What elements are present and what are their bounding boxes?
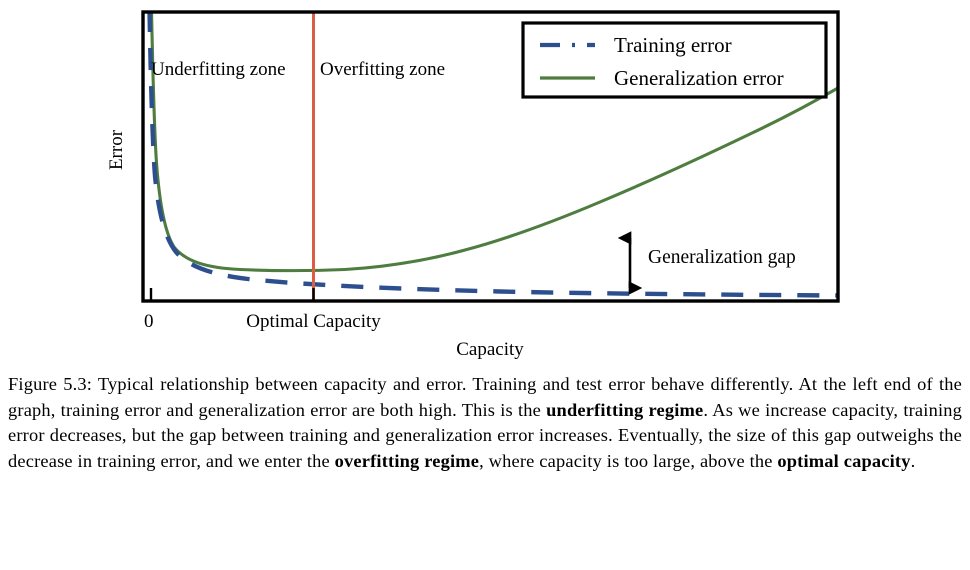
caption-emphasis: overfitting regime bbox=[335, 451, 479, 471]
capacity-error-chart: 0 Optimal Capacity Capacity Error Underf… bbox=[0, 0, 970, 365]
legend-label-training-error: Training error bbox=[614, 33, 732, 57]
y-axis-label: Error bbox=[106, 129, 127, 170]
caption-text: , where capacity is too large, above the bbox=[479, 451, 777, 471]
legend-label-generalization-error: Generalization error bbox=[614, 66, 784, 90]
xtick-label-optimal-capacity: Optimal Capacity bbox=[246, 311, 381, 332]
annotation-overfitting-zone: Overfitting zone bbox=[320, 59, 445, 80]
annotation-generalization-gap: Generalization gap bbox=[648, 247, 796, 268]
figure-page: 0 Optimal Capacity Capacity Error Underf… bbox=[0, 0, 970, 570]
annotation-underfitting-zone: Underfitting zone bbox=[151, 59, 286, 80]
x-axis-label: Capacity bbox=[456, 339, 524, 360]
figure-caption-body: Typical relationship between capacity an… bbox=[8, 374, 962, 471]
figure-graphic: 0 Optimal Capacity Capacity Error Underf… bbox=[0, 0, 970, 365]
figure-caption: Figure 5.3: Typical relationship between… bbox=[8, 372, 962, 474]
caption-text: . bbox=[911, 451, 916, 471]
caption-emphasis: underfitting regime bbox=[546, 400, 703, 420]
caption-emphasis: optimal capacity bbox=[777, 451, 910, 471]
figure-caption-label: Figure 5.3: bbox=[8, 374, 92, 394]
xtick-label-zero: 0 bbox=[144, 311, 154, 332]
chart-legend: Training error Generalization error bbox=[523, 23, 826, 97]
